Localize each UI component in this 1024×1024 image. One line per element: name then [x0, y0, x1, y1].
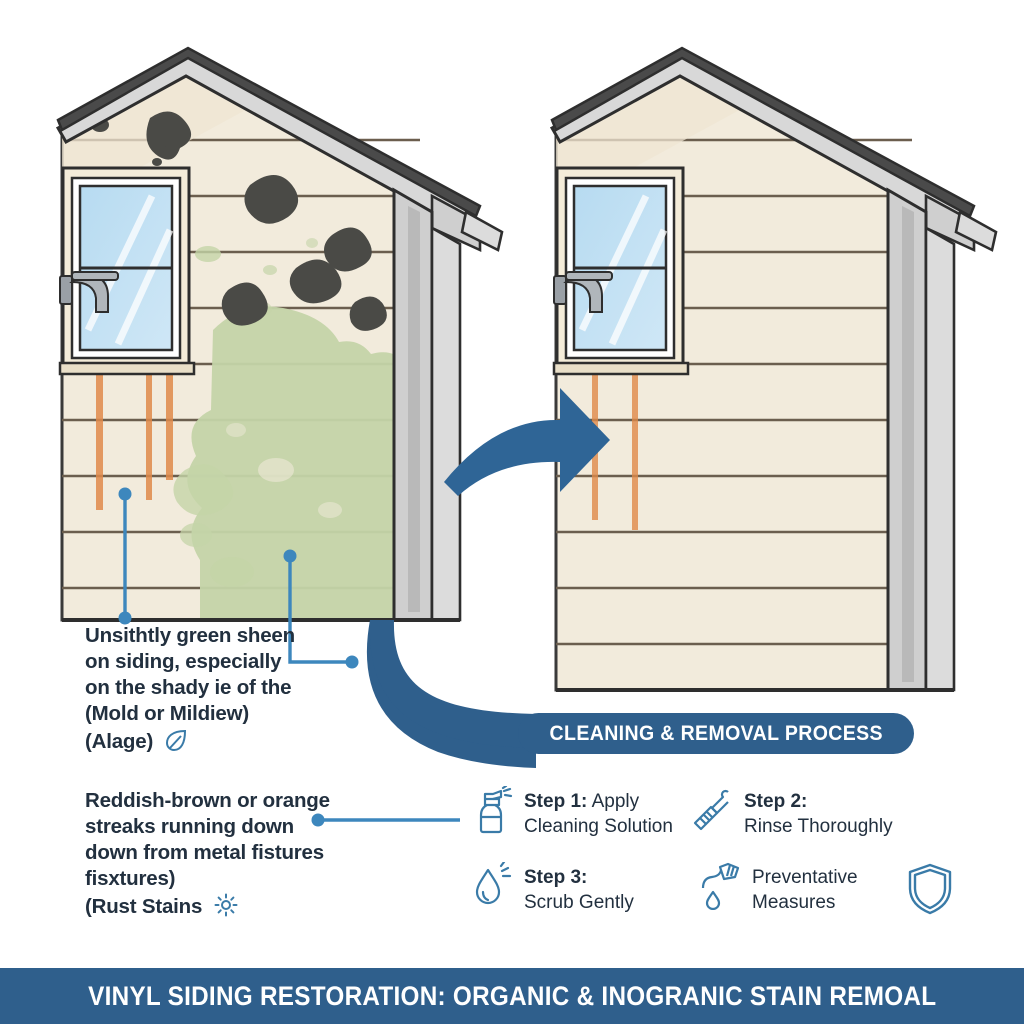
title-bar-text: VINYL SIDING RESTORATION: ORGANIC & INOG… — [88, 981, 936, 1012]
algae-callout-line-2: on siding, especially — [85, 649, 295, 675]
gear-icon — [213, 892, 239, 925]
step-1-text: Step 1: Apply Cleaning Solution — [524, 786, 673, 839]
rust-callout-line-5: (Rust Stains — [85, 892, 330, 925]
step-3[interactable]: Step 3: Scrub Gently — [472, 862, 634, 915]
step-2-lead: Step 2: — [744, 791, 807, 812]
process-banner-label: CLEANING & REMOVAL PROCESS — [549, 722, 882, 746]
step-3-lead: Step 3: — [524, 867, 587, 888]
algae-callout-line-4: (Mold or Mildiew) — [85, 701, 295, 727]
step-2-line2: Rinse Thoroughly — [744, 814, 893, 839]
algae-callout-line-5-text: (Alage) — [85, 730, 153, 753]
leaf-icon — [164, 727, 190, 760]
water-drop-icon — [472, 862, 514, 910]
step-4-rest: Preventative — [752, 867, 858, 888]
step-1-line2: Cleaning Solution — [524, 814, 673, 839]
step-1[interactable]: Step 1: Apply Cleaning Solution — [472, 786, 673, 839]
banner-tail — [367, 620, 536, 768]
title-bar: VINYL SIDING RESTORATION: ORGANIC & INOG… — [0, 968, 1024, 1024]
step-4[interactable]: Preventative Measures — [700, 862, 858, 915]
step-2[interactable]: Step 2: Rinse Thoroughly — [692, 786, 893, 839]
algae-callout-line-1: Unsithtly green sheen — [85, 623, 295, 649]
algae-callout: Unsithtly green sheen on siding, especia… — [85, 623, 295, 760]
step-4-text: Preventative Measures — [752, 862, 858, 915]
brush-icon — [692, 786, 734, 834]
algae-callout-line-3: on the shady ie of the — [85, 675, 295, 701]
rust-callout-line-4: fisxtures) — [85, 866, 330, 892]
step-4-line2: Measures — [752, 890, 858, 915]
step-1-lead: Step 1: — [524, 791, 587, 812]
rust-callout-line-5-text: (Rust Stains — [85, 895, 202, 918]
rust-callout-line-1: Reddish-brown or orange — [85, 788, 330, 814]
step-3-line2: Scrub Gently — [524, 890, 634, 915]
shield-icon — [906, 862, 954, 921]
step-3-text: Step 3: Scrub Gently — [524, 862, 634, 915]
rust-callout-line-2: streaks running down — [85, 814, 330, 840]
step-2-text: Step 2: Rinse Thoroughly — [744, 786, 893, 839]
clean-house — [552, 48, 996, 690]
hose-nozzle-icon — [700, 862, 742, 910]
algae-callout-line-5: (Alage) — [85, 727, 295, 760]
rust-callout-line-3: down from metal fistures — [85, 840, 330, 866]
infographic-canvas: Unsithtly green sheen on siding, especia… — [0, 0, 1024, 1024]
process-banner: CLEANING & REMOVAL PROCESS — [518, 713, 914, 754]
spray-bottle-icon — [472, 786, 514, 834]
rust-callout: Reddish-brown or orange streaks running … — [85, 788, 330, 925]
step-1-rest: Apply — [587, 791, 639, 812]
